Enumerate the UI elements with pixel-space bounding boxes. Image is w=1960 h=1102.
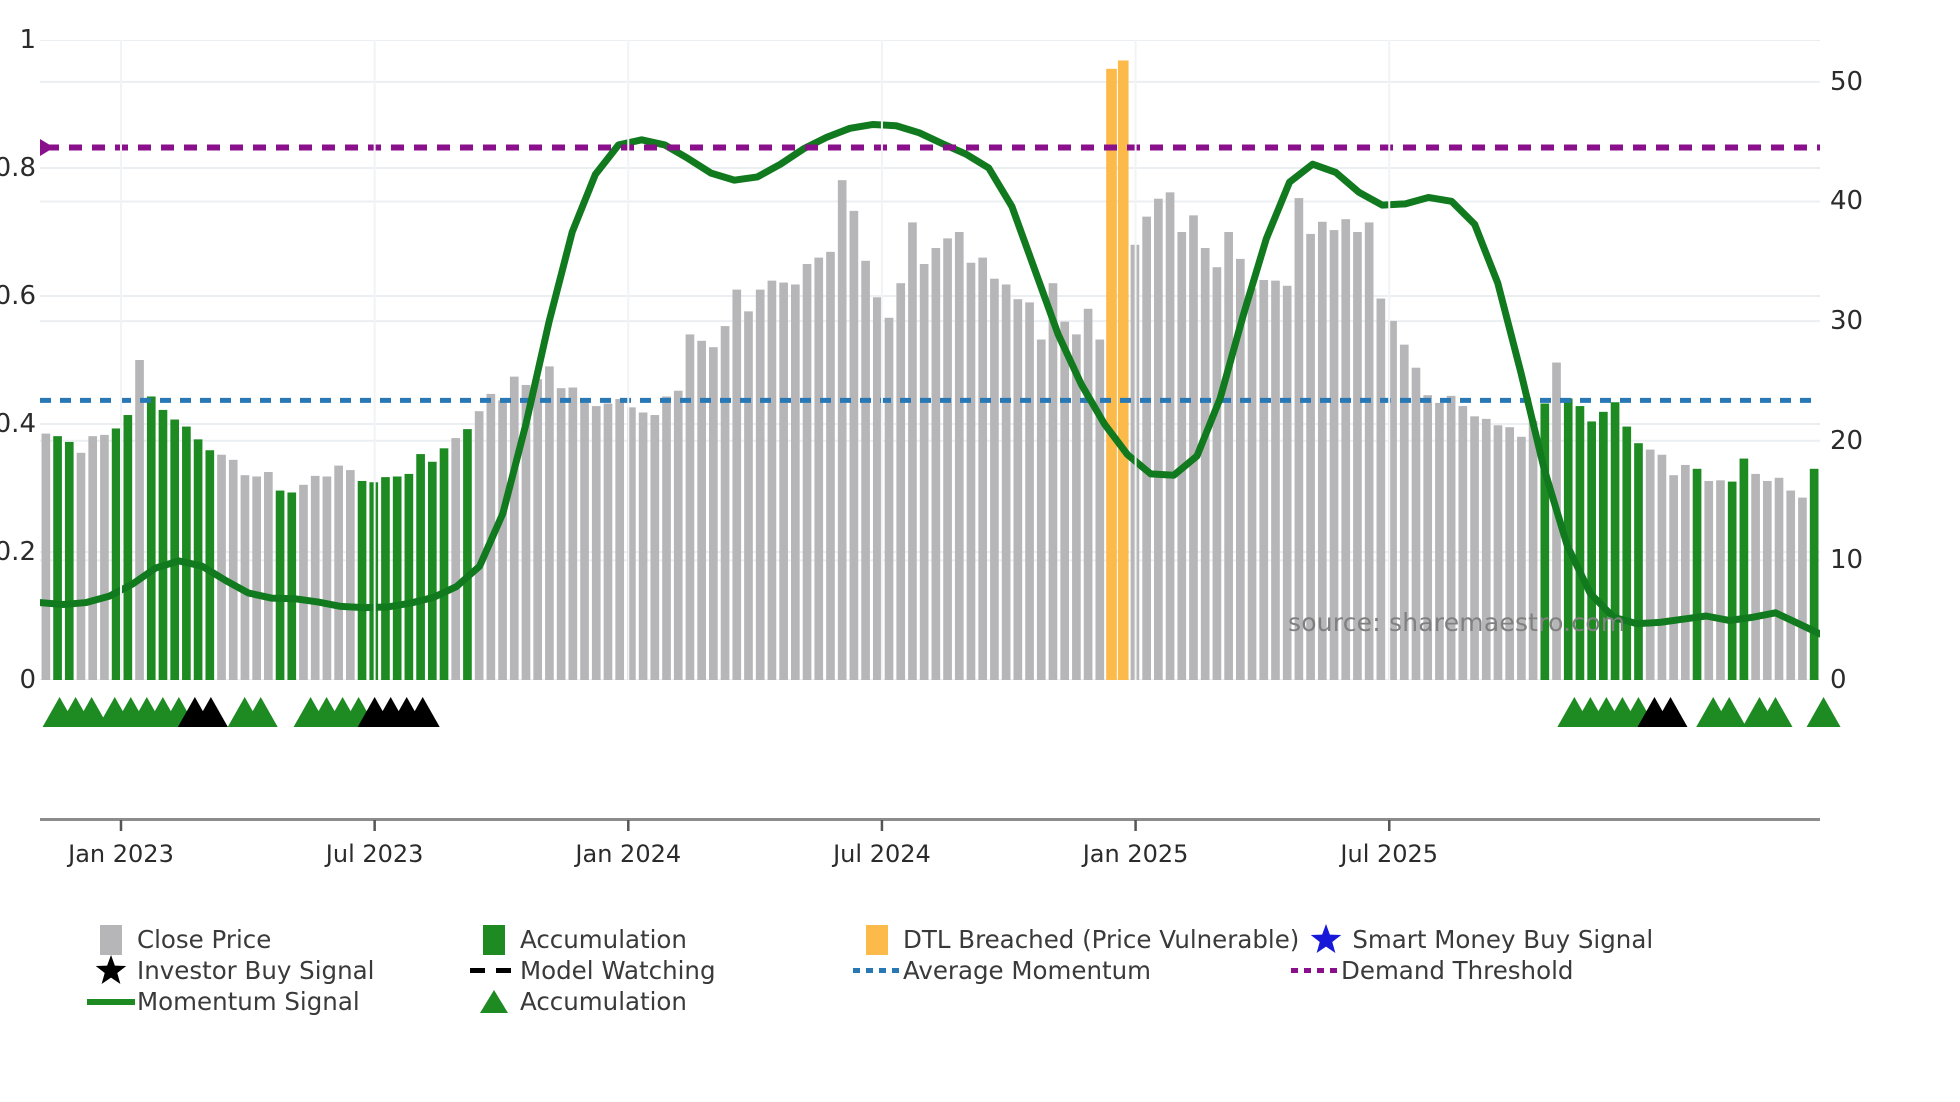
legend-smart-money-buy-signal-label: Smart Money Buy Signal	[1352, 925, 1653, 954]
chart-legend: Close PriceAccumulationDTL Breached (Pri…	[84, 924, 1944, 1017]
bar-32	[416, 454, 425, 680]
x-axis-ticks	[40, 818, 1820, 832]
bar-148	[1775, 478, 1784, 680]
legend-accumulation-bar-label: Accumulation	[520, 925, 687, 954]
bar-22	[299, 485, 308, 680]
bar-135	[1622, 427, 1631, 680]
legend-model-watching[interactable]: Model Watching	[467, 955, 850, 986]
legend-demand-threshold[interactable]: Demand Threshold	[1288, 955, 1573, 986]
bar-74	[908, 222, 917, 680]
bar-40	[510, 377, 519, 680]
chart-svg	[40, 40, 1820, 680]
bar-140	[1681, 465, 1690, 680]
bar-46	[580, 402, 589, 680]
bar-98	[1189, 215, 1198, 680]
bar-53	[662, 396, 671, 680]
bar-104	[1259, 280, 1268, 680]
bar-103	[1248, 288, 1257, 680]
bar-34	[440, 448, 449, 680]
bar-144	[1728, 482, 1737, 680]
bar-27	[358, 481, 367, 680]
bar-2	[65, 442, 74, 680]
bar-95	[1154, 199, 1163, 680]
legend-investor-buy-signal[interactable]: Investor Buy Signal	[84, 955, 467, 986]
left-axis-tick-0.8: 0.8	[0, 153, 36, 183]
left-axis-tick-0.2: 0.2	[0, 537, 36, 567]
bar-80	[978, 258, 987, 680]
bar-89	[1084, 309, 1093, 680]
bar-73	[896, 283, 905, 680]
bar-62	[768, 281, 777, 680]
x-axis: Jan 2023Jul 2023Jan 2024Jul 2024Jan 2025…	[40, 818, 1820, 858]
left-axis-tick-0: 0	[19, 665, 36, 695]
right-axis: 01020304050	[1830, 40, 1950, 680]
legend-accumulation-bar[interactable]: Accumulation	[467, 924, 850, 955]
x-axis-label-5: Jul 2025	[1340, 840, 1438, 868]
bar-0	[42, 434, 51, 680]
bar-123	[1482, 419, 1491, 680]
bar-31	[405, 474, 414, 680]
bar-146	[1751, 474, 1760, 680]
left-axis-tick-0.4: 0.4	[0, 409, 36, 439]
bar-26	[346, 470, 355, 680]
bar-70	[861, 261, 870, 680]
bar-120	[1447, 396, 1456, 680]
bar-143	[1716, 480, 1725, 680]
bar-17	[241, 475, 250, 680]
bar-122	[1470, 416, 1479, 680]
bar-29	[381, 477, 390, 680]
legend-model-watching-dash-icon	[470, 968, 518, 973]
x-axis-label-1: Jul 2023	[326, 840, 424, 868]
legend-investor-buy-signal-star-icon	[93, 954, 129, 988]
bar-16	[229, 460, 238, 680]
bar-121	[1459, 406, 1468, 680]
bar-150	[1798, 498, 1807, 680]
bar-86	[1049, 283, 1058, 680]
bar-81	[990, 279, 999, 680]
bar-49	[615, 399, 624, 680]
bar-12	[182, 427, 191, 680]
legend-accumulation-triangle-label: Accumulation	[520, 987, 687, 1016]
legend-investor-buy-signal-label: Investor Buy Signal	[137, 956, 374, 985]
bar-72	[885, 318, 894, 680]
legend-accumulation-triangle-triangle-icon	[477, 987, 511, 1017]
legend-smart-money-buy-signal-star-icon	[1308, 923, 1344, 957]
bar-118	[1423, 395, 1432, 680]
bar-77	[943, 238, 952, 680]
bar-9	[147, 396, 156, 680]
bar-57	[709, 347, 718, 680]
bar-35	[451, 438, 460, 680]
bar-52	[650, 415, 659, 680]
legend-close-price-swatch-icon	[100, 925, 122, 955]
accumulation-triangle-23	[1807, 697, 1841, 727]
bar-87	[1060, 322, 1069, 680]
bar-79	[967, 263, 976, 680]
right-axis-tick-20: 20	[1830, 426, 1863, 456]
bar-145	[1740, 459, 1749, 680]
bar-21	[287, 492, 296, 680]
bar-126	[1517, 437, 1526, 680]
bar-99	[1201, 248, 1210, 680]
legend-close-price[interactable]: Close Price	[84, 924, 467, 955]
bar-65	[803, 264, 812, 680]
bar-71	[873, 297, 882, 680]
bar-23	[311, 476, 320, 680]
right-axis-tick-40: 40	[1830, 186, 1863, 216]
bar-6	[112, 428, 121, 680]
bar-1	[53, 436, 62, 680]
legend-demand-threshold-dot-icon	[1291, 968, 1339, 973]
legend-dtl-breached-label: DTL Breached (Price Vulnerable)	[903, 925, 1299, 954]
legend-momentum-signal[interactable]: Momentum Signal	[84, 986, 467, 1017]
legend-row-1: Investor Buy SignalModel WatchingAverage…	[84, 955, 1944, 986]
bar-7	[124, 415, 133, 680]
right-axis-tick-30: 30	[1830, 306, 1863, 336]
bar-105	[1271, 281, 1280, 680]
bar-132	[1587, 421, 1596, 680]
bar-100	[1213, 267, 1222, 680]
legend-momentum-signal-line-icon	[87, 999, 135, 1005]
bar-84	[1025, 302, 1034, 680]
bar-63	[779, 283, 788, 680]
bar-133	[1599, 412, 1608, 680]
bar-96	[1166, 192, 1175, 680]
bar-78	[955, 232, 964, 680]
bar-67	[826, 252, 835, 680]
dtl-breached-bar-92	[1118, 60, 1129, 680]
bar-94	[1142, 217, 1151, 680]
left-axis-tick-0.6: 0.6	[0, 281, 36, 311]
legend-average-momentum-dot-icon	[853, 968, 901, 973]
x-axis-label-0: Jan 2023	[68, 840, 174, 868]
legend-model-watching-label: Model Watching	[520, 956, 716, 985]
bar-82	[1002, 284, 1011, 680]
right-axis-tick-10: 10	[1830, 545, 1863, 575]
source-attribution: source: sharemaestro.com	[1288, 608, 1625, 637]
legend-momentum-signal-label: Momentum Signal	[137, 987, 360, 1016]
bar-69	[850, 211, 859, 680]
legend-average-momentum-label: Average Momentum	[903, 956, 1151, 985]
bar-11	[170, 420, 179, 680]
bar-83	[1014, 299, 1023, 680]
dtl-breached-bar-91	[1106, 69, 1117, 680]
bar-97	[1177, 232, 1186, 680]
legend-row-2: Momentum SignalAccumulation	[84, 986, 1944, 1017]
legend-smart-money-buy-signal[interactable]: Smart Money Buy Signal	[1299, 924, 1653, 955]
bar-18	[252, 476, 261, 680]
bar-64	[791, 284, 800, 680]
bar-60	[744, 311, 753, 680]
bar-5	[100, 435, 109, 680]
bar-3	[77, 453, 86, 680]
bar-76	[932, 248, 941, 680]
bar-136	[1634, 443, 1643, 680]
legend-accumulation-bar-swatch-icon	[483, 925, 505, 955]
bar-75	[920, 264, 929, 680]
legend-dtl-breached-swatch-icon	[866, 925, 888, 955]
triangle-glyph	[480, 990, 508, 1013]
star-glyph	[1311, 924, 1341, 953]
bar-54	[674, 391, 683, 680]
bar-44	[557, 388, 566, 680]
bar-36	[463, 429, 472, 680]
bar-39	[498, 400, 507, 680]
plot-area	[40, 40, 1820, 680]
bar-101	[1224, 232, 1233, 680]
bar-68	[838, 180, 847, 680]
legend-dtl-breached[interactable]: DTL Breached (Price Vulnerable)	[850, 924, 1299, 955]
bar-4	[88, 436, 97, 680]
bar-151	[1810, 469, 1819, 680]
legend-demand-threshold-label: Demand Threshold	[1341, 956, 1573, 985]
bar-119	[1435, 403, 1444, 680]
bar-85	[1037, 340, 1046, 680]
bar-149	[1786, 491, 1795, 680]
x-axis-label-3: Jul 2024	[833, 840, 931, 868]
bar-142	[1704, 481, 1713, 680]
right-axis-tick-50: 50	[1830, 67, 1863, 97]
bar-66	[814, 258, 823, 680]
bar-58	[721, 326, 730, 680]
accumulation-marker-row	[40, 684, 1920, 740]
bar-33	[428, 462, 437, 680]
bar-127	[1529, 421, 1538, 680]
bar-141	[1693, 469, 1702, 680]
bar-51	[639, 412, 648, 680]
bar-19	[264, 472, 273, 680]
bar-45	[569, 388, 578, 680]
legend-accumulation-triangle[interactable]: Accumulation	[467, 986, 850, 1017]
bar-20	[276, 491, 285, 680]
bar-61	[756, 290, 765, 680]
left-axis-tick-1: 1	[19, 25, 36, 55]
legend-close-price-label: Close Price	[137, 925, 271, 954]
bar-137	[1646, 450, 1655, 680]
demand-threshold-start-marker	[40, 131, 54, 165]
bar-55	[686, 334, 695, 680]
legend-row-0: Close PriceAccumulationDTL Breached (Pri…	[84, 924, 1944, 955]
left-axis: 00.20.40.60.81	[0, 40, 36, 680]
bar-56	[697, 341, 706, 680]
bar-25	[334, 466, 343, 680]
bar-48	[604, 404, 613, 680]
legend-average-momentum[interactable]: Average Momentum	[850, 955, 1288, 986]
chart-page: 00.20.40.60.81 01020304050 source: share…	[0, 0, 1960, 1102]
bar-24	[323, 476, 332, 680]
bar-37	[475, 411, 484, 680]
bar-15	[217, 455, 226, 680]
bar-125	[1505, 427, 1514, 680]
bar-124	[1494, 425, 1503, 680]
bar-138	[1658, 455, 1667, 680]
bar-8	[135, 360, 144, 680]
bar-147	[1763, 481, 1772, 680]
bar-131	[1576, 406, 1585, 680]
bar-42	[533, 379, 542, 680]
bar-139	[1669, 475, 1678, 680]
bar-13	[194, 439, 203, 680]
bar-43	[545, 366, 554, 680]
x-axis-label-2: Jan 2024	[575, 840, 681, 868]
x-axis-label-4: Jan 2025	[1083, 840, 1189, 868]
bar-30	[393, 476, 402, 680]
bar-47	[592, 406, 601, 680]
bar-90	[1095, 340, 1104, 680]
star-glyph	[95, 955, 125, 984]
bar-59	[732, 290, 741, 680]
bar-10	[159, 410, 168, 680]
bar-134	[1611, 402, 1620, 680]
